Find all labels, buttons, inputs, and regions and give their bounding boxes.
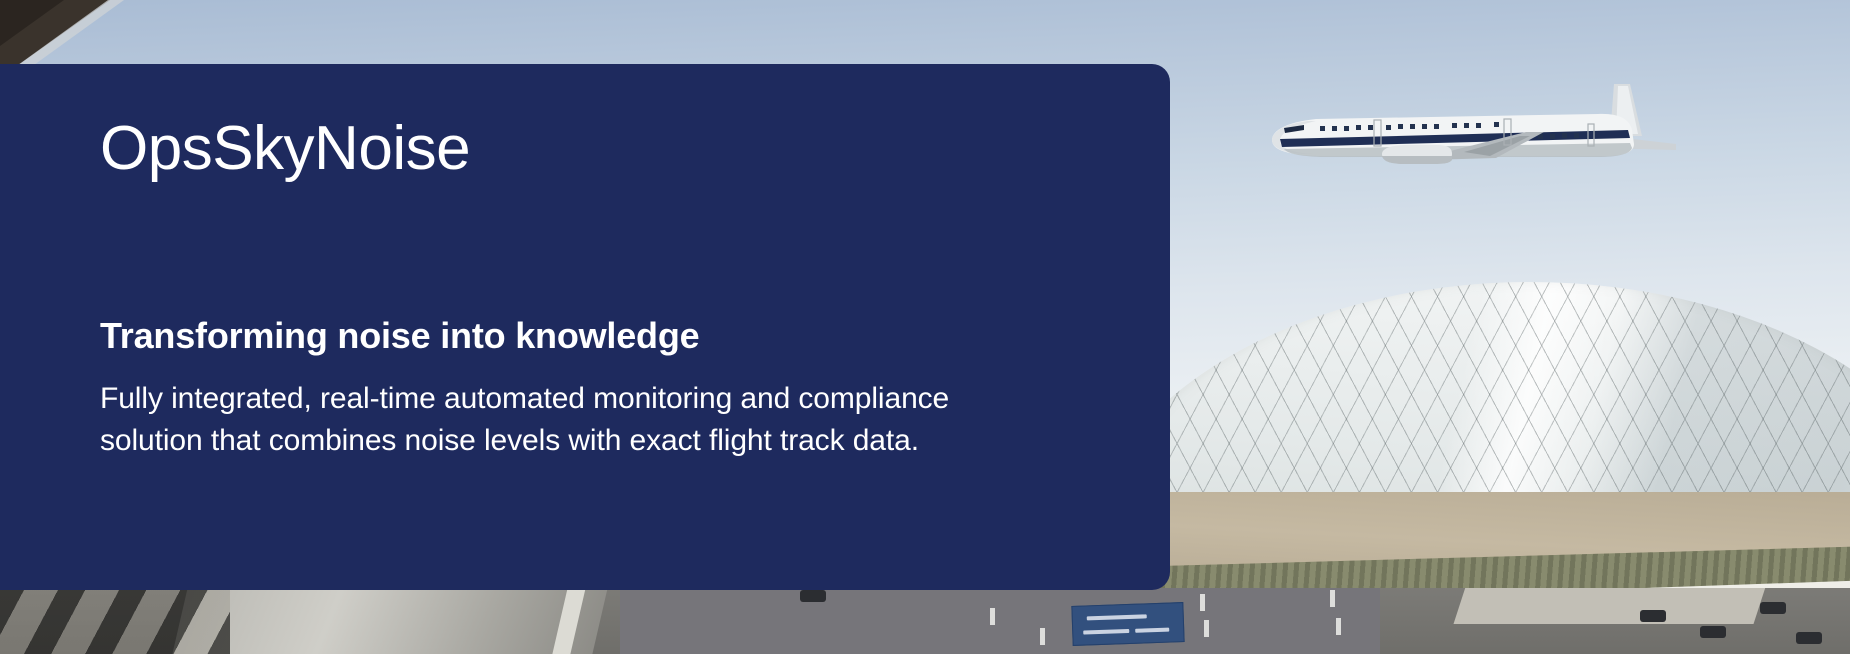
highway-band — [0, 588, 1850, 654]
hero-banner: OpsSkyNoise Transforming noise into know… — [0, 0, 1850, 654]
lane-marking — [1200, 594, 1205, 611]
lane-marking — [1336, 618, 1341, 635]
lane-marking — [990, 608, 995, 625]
lane-marking — [1330, 590, 1335, 607]
lane-marking — [1204, 620, 1209, 637]
airliner-icon — [1258, 78, 1678, 176]
hero-subtitle: Transforming noise into knowledge — [100, 315, 1110, 356]
vehicle — [1796, 632, 1822, 644]
sidewalk — [1454, 588, 1767, 624]
vehicle — [800, 590, 826, 602]
vehicle — [1700, 626, 1726, 638]
vehicle — [1760, 602, 1786, 614]
lane-marking — [1040, 628, 1045, 645]
road-sign — [1071, 602, 1184, 646]
hero-card: OpsSkyNoise Transforming noise into know… — [0, 64, 1170, 590]
page-title: OpsSkyNoise — [100, 116, 1110, 181]
hero-description: Fully integrated, real-time automated mo… — [100, 378, 950, 460]
road-surface — [620, 588, 1380, 654]
bridge-shadows — [0, 588, 230, 654]
vehicle — [1640, 610, 1666, 622]
overpass-deck — [171, 588, 609, 654]
